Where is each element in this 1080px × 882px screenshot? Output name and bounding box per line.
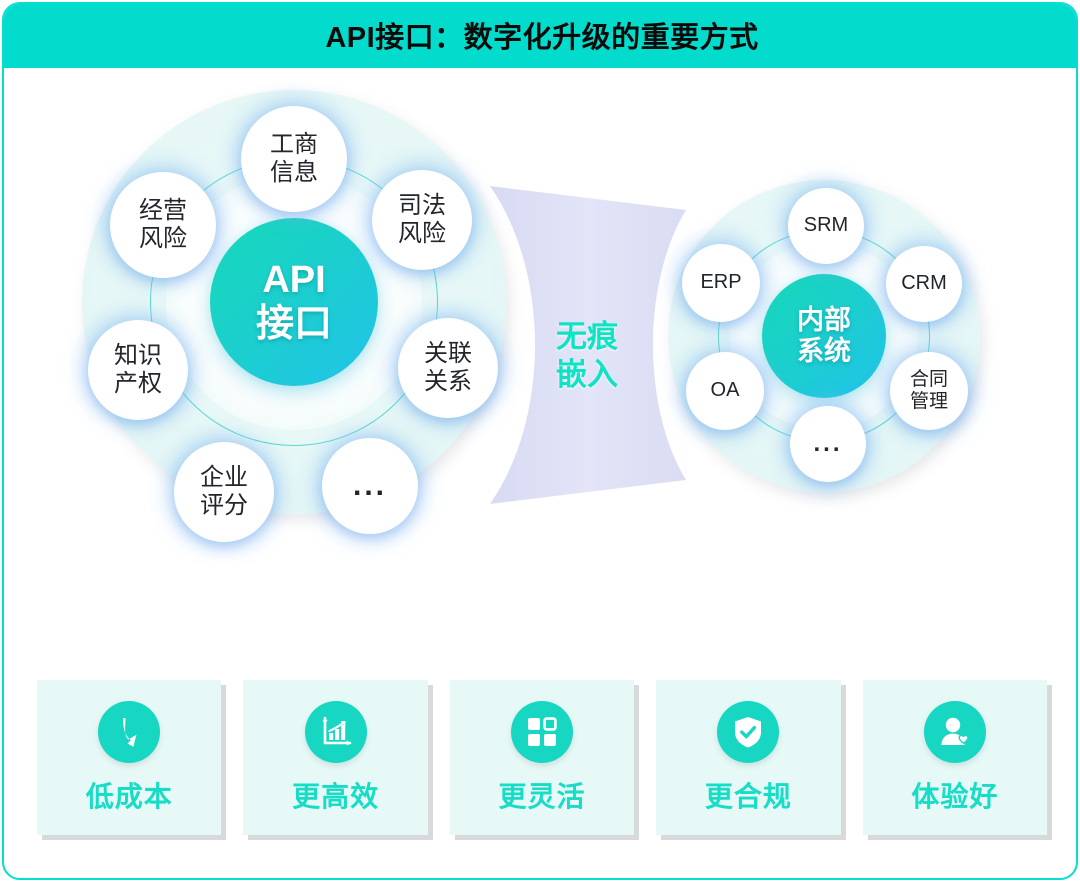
satellite-more-right[interactable]: ... [790,406,866,482]
satellite-srm[interactable]: SRM [788,188,864,264]
satellite-label: 经营 风险 [139,197,187,254]
benefit-card-label: 更合规 [705,775,792,815]
benefit-card-label: 低成本 [86,775,173,815]
header-bar: API接口：数字化升级的重要方式 [2,2,1078,68]
benefit-card-label: 体验好 [911,775,998,815]
benefit-card-more-flexible[interactable]: 更灵活 [450,680,634,835]
internal-system-cluster: 内部 系统 SRM CRM 合同 管理 ... OA [668,180,980,492]
satellite-hetong-guanli[interactable]: 合同 管理 [890,352,968,430]
satellite-guanlian-guanxi[interactable]: 关联 关系 [398,318,498,418]
arrow-down-cost-icon [98,701,160,763]
satellite-erp[interactable]: ERP [682,244,760,322]
satellite-gongshang-xinxi[interactable]: 工商 信息 [241,106,347,212]
benefit-card-row: 低成本 更高效 [37,680,1047,840]
satellite-label: OA [711,379,740,403]
core-internal-system-node[interactable]: 内部 系统 [762,274,886,398]
shield-check-icon [717,701,779,763]
benefit-card-more-compliant[interactable]: 更合规 [656,680,840,835]
satellite-jingying-fengxian[interactable]: 经营 风险 [110,172,216,278]
satellite-label: SRM [804,214,848,238]
api-capability-cluster: API 接口 工商 信息 司法 风险 关联 关系 ... 企业 评分 [82,90,506,514]
satellite-oa[interactable]: OA [686,352,764,430]
grid-blocks-icon [511,701,573,763]
core-api-node[interactable]: API 接口 [210,218,378,386]
ellipsis-icon: ... [353,477,387,495]
benefit-card-low-cost[interactable]: 低成本 [37,680,221,835]
core-api-label: API 接口 [256,258,332,346]
benefit-card-more-efficient[interactable]: 更高效 [243,680,427,835]
satellite-label: ERP [700,271,741,295]
satellite-label: 合同 管理 [910,369,948,414]
core-internal-system-label: 内部 系统 [797,305,851,368]
satellite-qiye-pingfen[interactable]: 企业 评分 [174,442,274,542]
benefit-card-label: 更高效 [292,775,379,815]
satellite-label: 司法 风险 [398,192,446,249]
page-title: API接口：数字化升级的重要方式 [325,14,758,56]
satellite-label: 关联 关系 [424,340,472,397]
diagram-stage: 无痕 嵌入 API 接口 工商 信息 司法 风险 关联 关系 [4,70,1078,660]
satellite-zhishi-chanquan[interactable]: 知识 产权 [88,320,188,420]
satellite-crm[interactable]: CRM [886,246,962,322]
satellite-label: 知识 产权 [114,342,162,399]
satellite-more-left[interactable]: ... [322,438,418,534]
bar-chart-growth-icon [305,701,367,763]
benefit-card-better-experience[interactable]: 体验好 [863,680,1047,835]
ellipsis-icon: ... [813,437,842,451]
satellite-label: 企业 评分 [200,464,248,521]
satellite-label: CRM [901,272,947,296]
satellite-label: 工商 信息 [270,131,318,188]
benefit-card-label: 更灵活 [499,775,586,815]
user-heart-icon [924,701,986,763]
satellite-sifa-fengxian[interactable]: 司法 风险 [372,170,472,270]
infographic-frame: API接口：数字化升级的重要方式 无痕 嵌入 [2,2,1078,880]
